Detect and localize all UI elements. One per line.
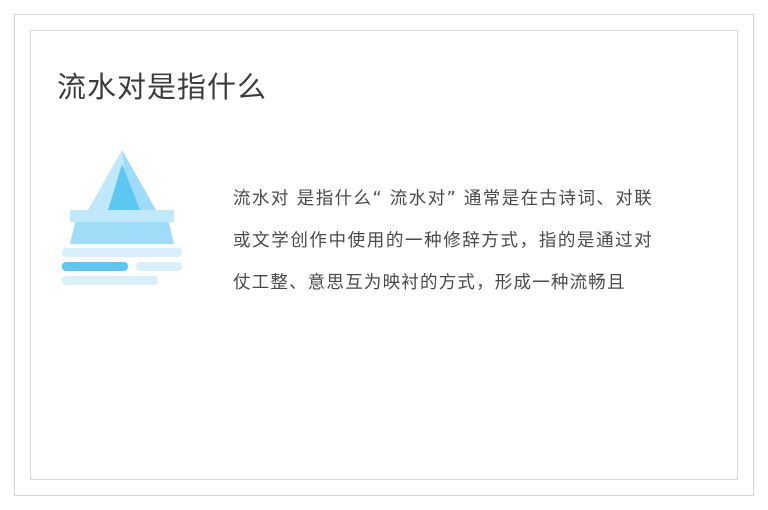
iceberg-illustration: [56, 148, 188, 296]
article-body: 流水对 是指什么“ 流水对” 通常是在古诗词、对联或文学创作中使用的一种修辞方式…: [233, 178, 653, 304]
page-title: 流水对是指什么: [57, 68, 267, 106]
water-line-2: [62, 262, 128, 271]
water-line-3: [136, 262, 182, 271]
iceberg-base-top: [70, 210, 174, 222]
document-page: 流水对是指什么 流水对 是指什么“ 流水对” 通常是在古诗词、对联或文学创作中使…: [0, 0, 768, 510]
water-line-4: [62, 276, 158, 285]
page-content: 流水对是指什么 流水对 是指什么“ 流水对” 通常是在古诗词、对联或文学创作中使…: [0, 0, 768, 510]
water-line-1: [62, 248, 182, 257]
